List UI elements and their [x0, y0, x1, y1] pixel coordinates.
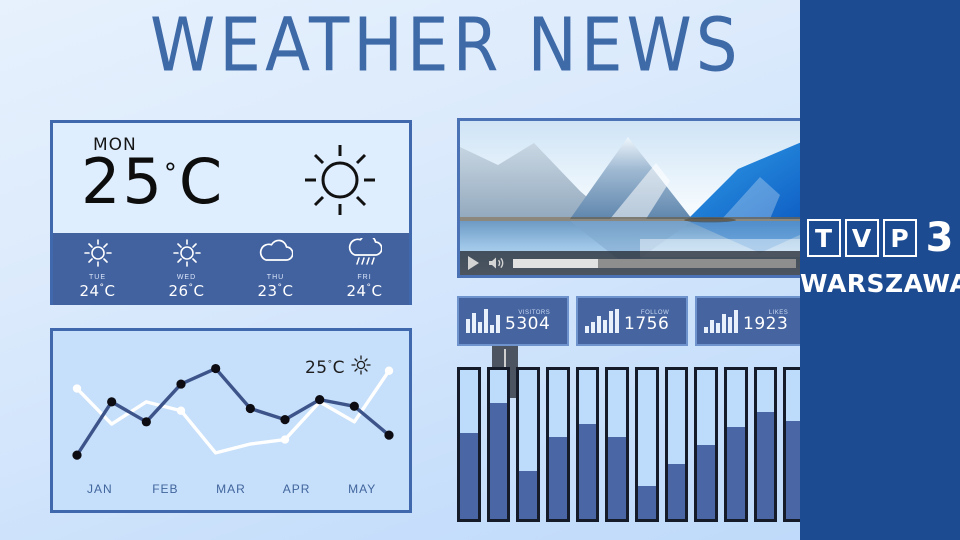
sun-icon [172, 238, 202, 273]
sun-icon [83, 238, 113, 273]
mini-bar [585, 326, 589, 333]
tvp-branding-panel: T V P 3 WARSZAWA [800, 0, 960, 540]
current-weather-main: MON 25°C [53, 123, 409, 233]
chart-point [350, 402, 359, 411]
chart-temp-badge: 25°C [305, 355, 371, 380]
gauge-bar-fill [638, 486, 656, 519]
mini-bar [728, 317, 732, 333]
stat-value: 1756 [624, 316, 669, 333]
tvp-logo: T V P 3 WARSZAWA [800, 218, 960, 298]
gauge-bar [487, 367, 511, 522]
gauge-bar-chart [457, 367, 807, 522]
stat-text: LIKES 1923 [743, 310, 788, 333]
temp-unit: C [372, 282, 383, 300]
stat-card-visitors[interactable]: VISITORS 5304 [457, 296, 569, 346]
chart-point [246, 404, 255, 413]
mini-bar [704, 327, 708, 333]
gauge-bar [516, 367, 540, 522]
stat-text: VISITORS 5304 [505, 310, 550, 333]
forecast-day-fri: FRI 24°C [320, 233, 409, 305]
tvp-city-label: WARSZAWA [800, 269, 960, 298]
forecast-temp-value: 23 [257, 282, 277, 300]
chart-point [73, 384, 81, 392]
mini-bar [472, 313, 476, 333]
temp-unit: C [179, 145, 224, 218]
mini-bar [710, 320, 714, 333]
gauge-bar [605, 367, 629, 522]
video-progress-bar[interactable] [513, 259, 796, 268]
cloud-icon [259, 238, 293, 273]
gauge-bar-fill [549, 437, 567, 519]
forecast-day-tue: TUE 24°C [53, 233, 142, 305]
gauge-bar [576, 367, 600, 522]
chart-x-tick: MAY [329, 482, 395, 496]
chart-badge-value: 25 [305, 358, 328, 378]
video-player[interactable] [457, 118, 807, 278]
chart-point [142, 417, 151, 426]
gauge-bar-fill [727, 427, 745, 519]
mini-bar [478, 322, 482, 333]
forecast-day-label: TUE [89, 274, 106, 281]
chart-x-tick: JAN [67, 482, 133, 496]
sun-icon [301, 141, 379, 224]
tvp-letter-p: P [883, 219, 917, 257]
chart-x-tick: APR [264, 482, 330, 496]
gauge-bar [754, 367, 778, 522]
current-temperature: 25°C [81, 145, 224, 218]
mini-bar [484, 309, 488, 333]
temperature-trend-chart: 25°C JANFEBMARAPRMAY [50, 328, 412, 513]
bar-chart-icon [466, 309, 500, 333]
chart-point [280, 415, 289, 424]
mini-bar [490, 325, 494, 333]
rain-cloud-icon [348, 238, 382, 273]
sun-icon [351, 355, 371, 380]
gauge-bar [665, 367, 689, 522]
mini-bar [603, 320, 607, 333]
stats-row: VISITORS 5304 FOLLOW 1756 LIKES 1923 [457, 296, 807, 346]
forecast-temp-value: 26 [168, 282, 188, 300]
chart-point [177, 407, 185, 415]
stat-value: 5304 [505, 316, 550, 333]
gauge-bar [635, 367, 659, 522]
stat-card-follow[interactable]: FOLLOW 1756 [576, 296, 688, 346]
chart-point [176, 379, 185, 388]
forecast-day-wed: WED 26°C [142, 233, 231, 305]
chart-point [72, 451, 81, 460]
stat-value: 1923 [743, 316, 788, 333]
chart-point [385, 367, 393, 375]
gauge-bar-fill [490, 403, 508, 519]
temp-unit: C [333, 358, 345, 378]
gauge-bar [724, 367, 748, 522]
gauge-bar-fill [697, 445, 715, 520]
bar-chart-icon [585, 309, 619, 333]
gauge-bar [546, 367, 570, 522]
mini-bar [597, 316, 601, 333]
chart-point [315, 395, 324, 404]
forecast-strip: TUE 24°C WED 26°C [53, 233, 409, 305]
temp-unit: C [283, 282, 294, 300]
page-title: WEATHER NEWS [150, 2, 742, 88]
degree-symbol: ° [164, 158, 179, 188]
forecast-day-thu: THU 23°C [231, 233, 320, 305]
video-controls-bar[interactable] [460, 251, 804, 275]
mini-bar [734, 310, 738, 333]
mini-bar [609, 311, 613, 333]
forecast-temp-value: 24 [346, 282, 366, 300]
mini-bar [722, 314, 726, 333]
gauge-bar [457, 367, 481, 522]
tvp-logo-row: T V P 3 [807, 218, 954, 258]
mini-bar [496, 315, 500, 333]
gauge-bar-fill [519, 471, 537, 519]
forecast-day-label: WED [177, 274, 196, 281]
video-progress-fill [513, 259, 598, 268]
gauge-bar-fill [460, 433, 478, 519]
current-weather-card: MON 25°C [50, 120, 412, 305]
speaker-icon[interactable] [487, 255, 505, 271]
gauge-bar-fill [608, 437, 626, 519]
chart-x-tick: FEB [133, 482, 199, 496]
gauge-bar [694, 367, 718, 522]
mini-bar [716, 323, 720, 333]
temp-unit: C [194, 282, 205, 300]
mini-bar [466, 319, 470, 333]
stat-card-likes[interactable]: LIKES 1923 [695, 296, 807, 346]
forecast-temp: 24°C [79, 282, 115, 300]
gauge-bar-fill [668, 464, 686, 519]
chart-line-white-series [77, 371, 389, 453]
gauge-bar-fill [579, 424, 597, 519]
forecast-temp: 23°C [257, 282, 293, 300]
chart-point [384, 431, 393, 440]
temp-unit: C [105, 282, 116, 300]
tvp-letter-v: V [845, 219, 879, 257]
chart-badge-text: 25°C [305, 358, 345, 378]
forecast-day-label: THU [267, 274, 284, 281]
dashboard-root: WEATHER NEWS MON 25°C [0, 0, 960, 540]
forecast-temp-value: 24 [79, 282, 99, 300]
chart-x-tick: MAR [198, 482, 264, 496]
chart-x-axis-labels: JANFEBMARAPRMAY [53, 482, 409, 496]
chart-point [281, 435, 289, 443]
forecast-temp: 26°C [168, 282, 204, 300]
bar-chart-icon [704, 309, 738, 333]
chart-point [107, 397, 116, 406]
current-temp-value: 25 [81, 145, 164, 218]
tvp-channel-number: 3 [926, 218, 954, 258]
chart-point [211, 364, 220, 373]
mini-bar [591, 322, 595, 333]
forecast-temp: 24°C [346, 282, 382, 300]
gauge-bar-fill [757, 412, 775, 519]
mini-bar [615, 309, 619, 333]
stat-text: FOLLOW 1756 [624, 310, 669, 333]
play-icon[interactable] [468, 256, 479, 270]
tvp-letter-t: T [807, 219, 841, 257]
chart-line-dark-navy-series [77, 369, 389, 456]
forecast-day-label: FRI [357, 274, 371, 281]
